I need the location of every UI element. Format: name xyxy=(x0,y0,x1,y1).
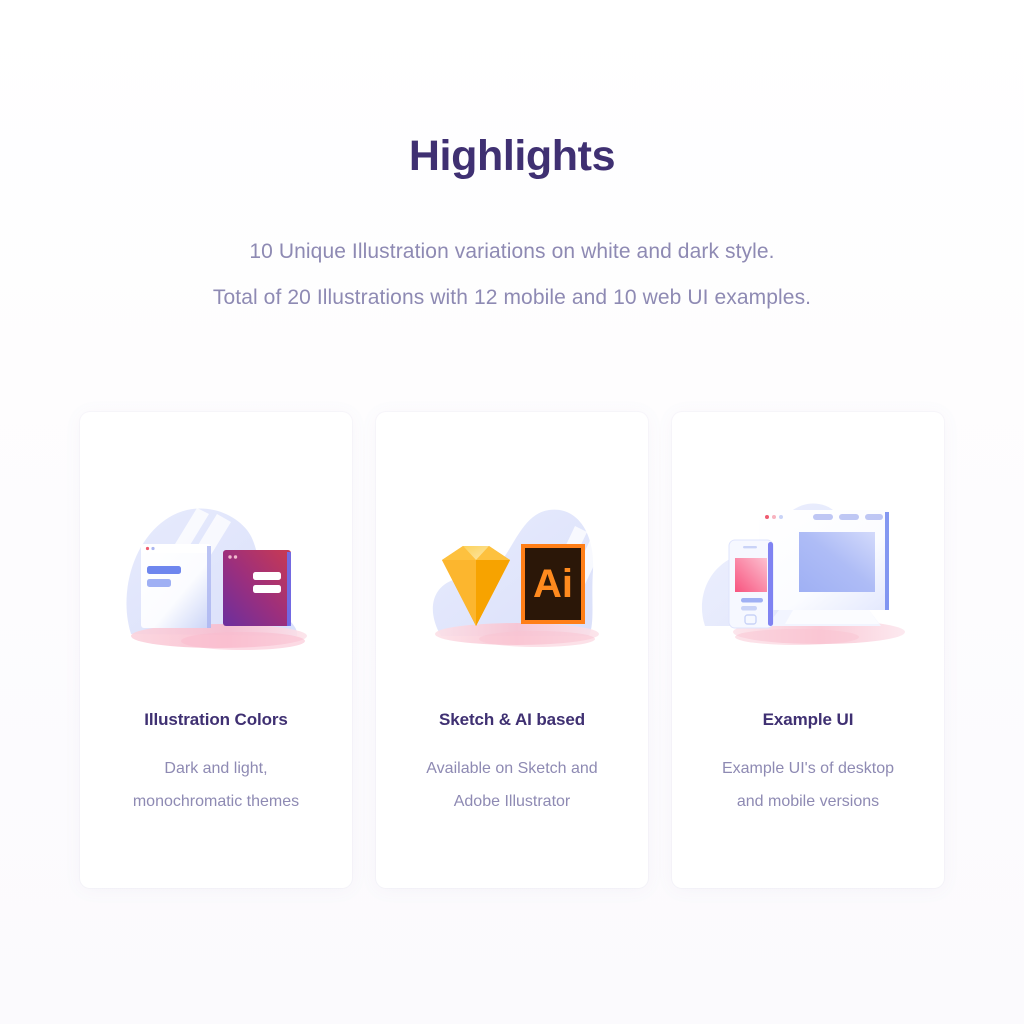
sketch-diamond-and-adobe-illustrator-icons: Ai xyxy=(397,484,627,674)
light-browser-window xyxy=(141,544,211,628)
card-description-line-2: Adobe Illustrator xyxy=(402,785,622,818)
card-description: Dark and light, monochromatic themes xyxy=(106,752,326,818)
card-description-line-2: monochromatic themes xyxy=(106,785,326,818)
desktop-browser-window xyxy=(759,510,889,626)
dark-browser-window xyxy=(223,550,291,626)
mobile-phone xyxy=(729,540,773,628)
page-header: Highlights 10 Unique Illustration variat… xyxy=(0,132,1024,321)
adobe-illustrator-icon: Ai xyxy=(521,544,585,624)
card-description-line-1: Available on Sketch and xyxy=(402,752,622,785)
highlights-page: Highlights 10 Unique Illustration variat… xyxy=(0,0,1024,1024)
card-description: Available on Sketch and Adobe Illustrato… xyxy=(402,752,622,818)
highlight-card-sketch-ai-based[interactable]: Ai Sketch & AI based Available on Sketch… xyxy=(376,412,648,888)
highlight-card-illustration-colors[interactable]: Illustration Colors Dark and light, mono… xyxy=(80,412,352,888)
subtitle-line-1: 10 Unique Illustration variations on whi… xyxy=(0,229,1024,275)
card-description-line-1: Example UI's of desktop xyxy=(698,752,918,785)
desktop-browser-and-mobile-phone-illustration xyxy=(693,484,923,674)
card-title: Illustration Colors xyxy=(144,710,288,730)
subtitle-line-2: Total of 20 Illustrations with 12 mobile… xyxy=(0,275,1024,321)
page-subtitle: 10 Unique Illustration variations on whi… xyxy=(0,229,1024,321)
highlight-card-example-ui[interactable]: Example UI Example UI's of desktop and m… xyxy=(672,412,944,888)
card-title: Sketch & AI based xyxy=(439,710,585,730)
card-title: Example UI xyxy=(763,710,854,730)
illustrator-badge-label: Ai xyxy=(533,562,573,606)
card-description-line-1: Dark and light, xyxy=(106,752,326,785)
browser-windows-light-and-dark-illustration xyxy=(101,484,331,674)
highlight-cards-row: Illustration Colors Dark and light, mono… xyxy=(80,412,944,888)
card-description: Example UI's of desktop and mobile versi… xyxy=(698,752,918,818)
page-title: Highlights xyxy=(0,132,1024,181)
card-description-line-2: and mobile versions xyxy=(698,785,918,818)
